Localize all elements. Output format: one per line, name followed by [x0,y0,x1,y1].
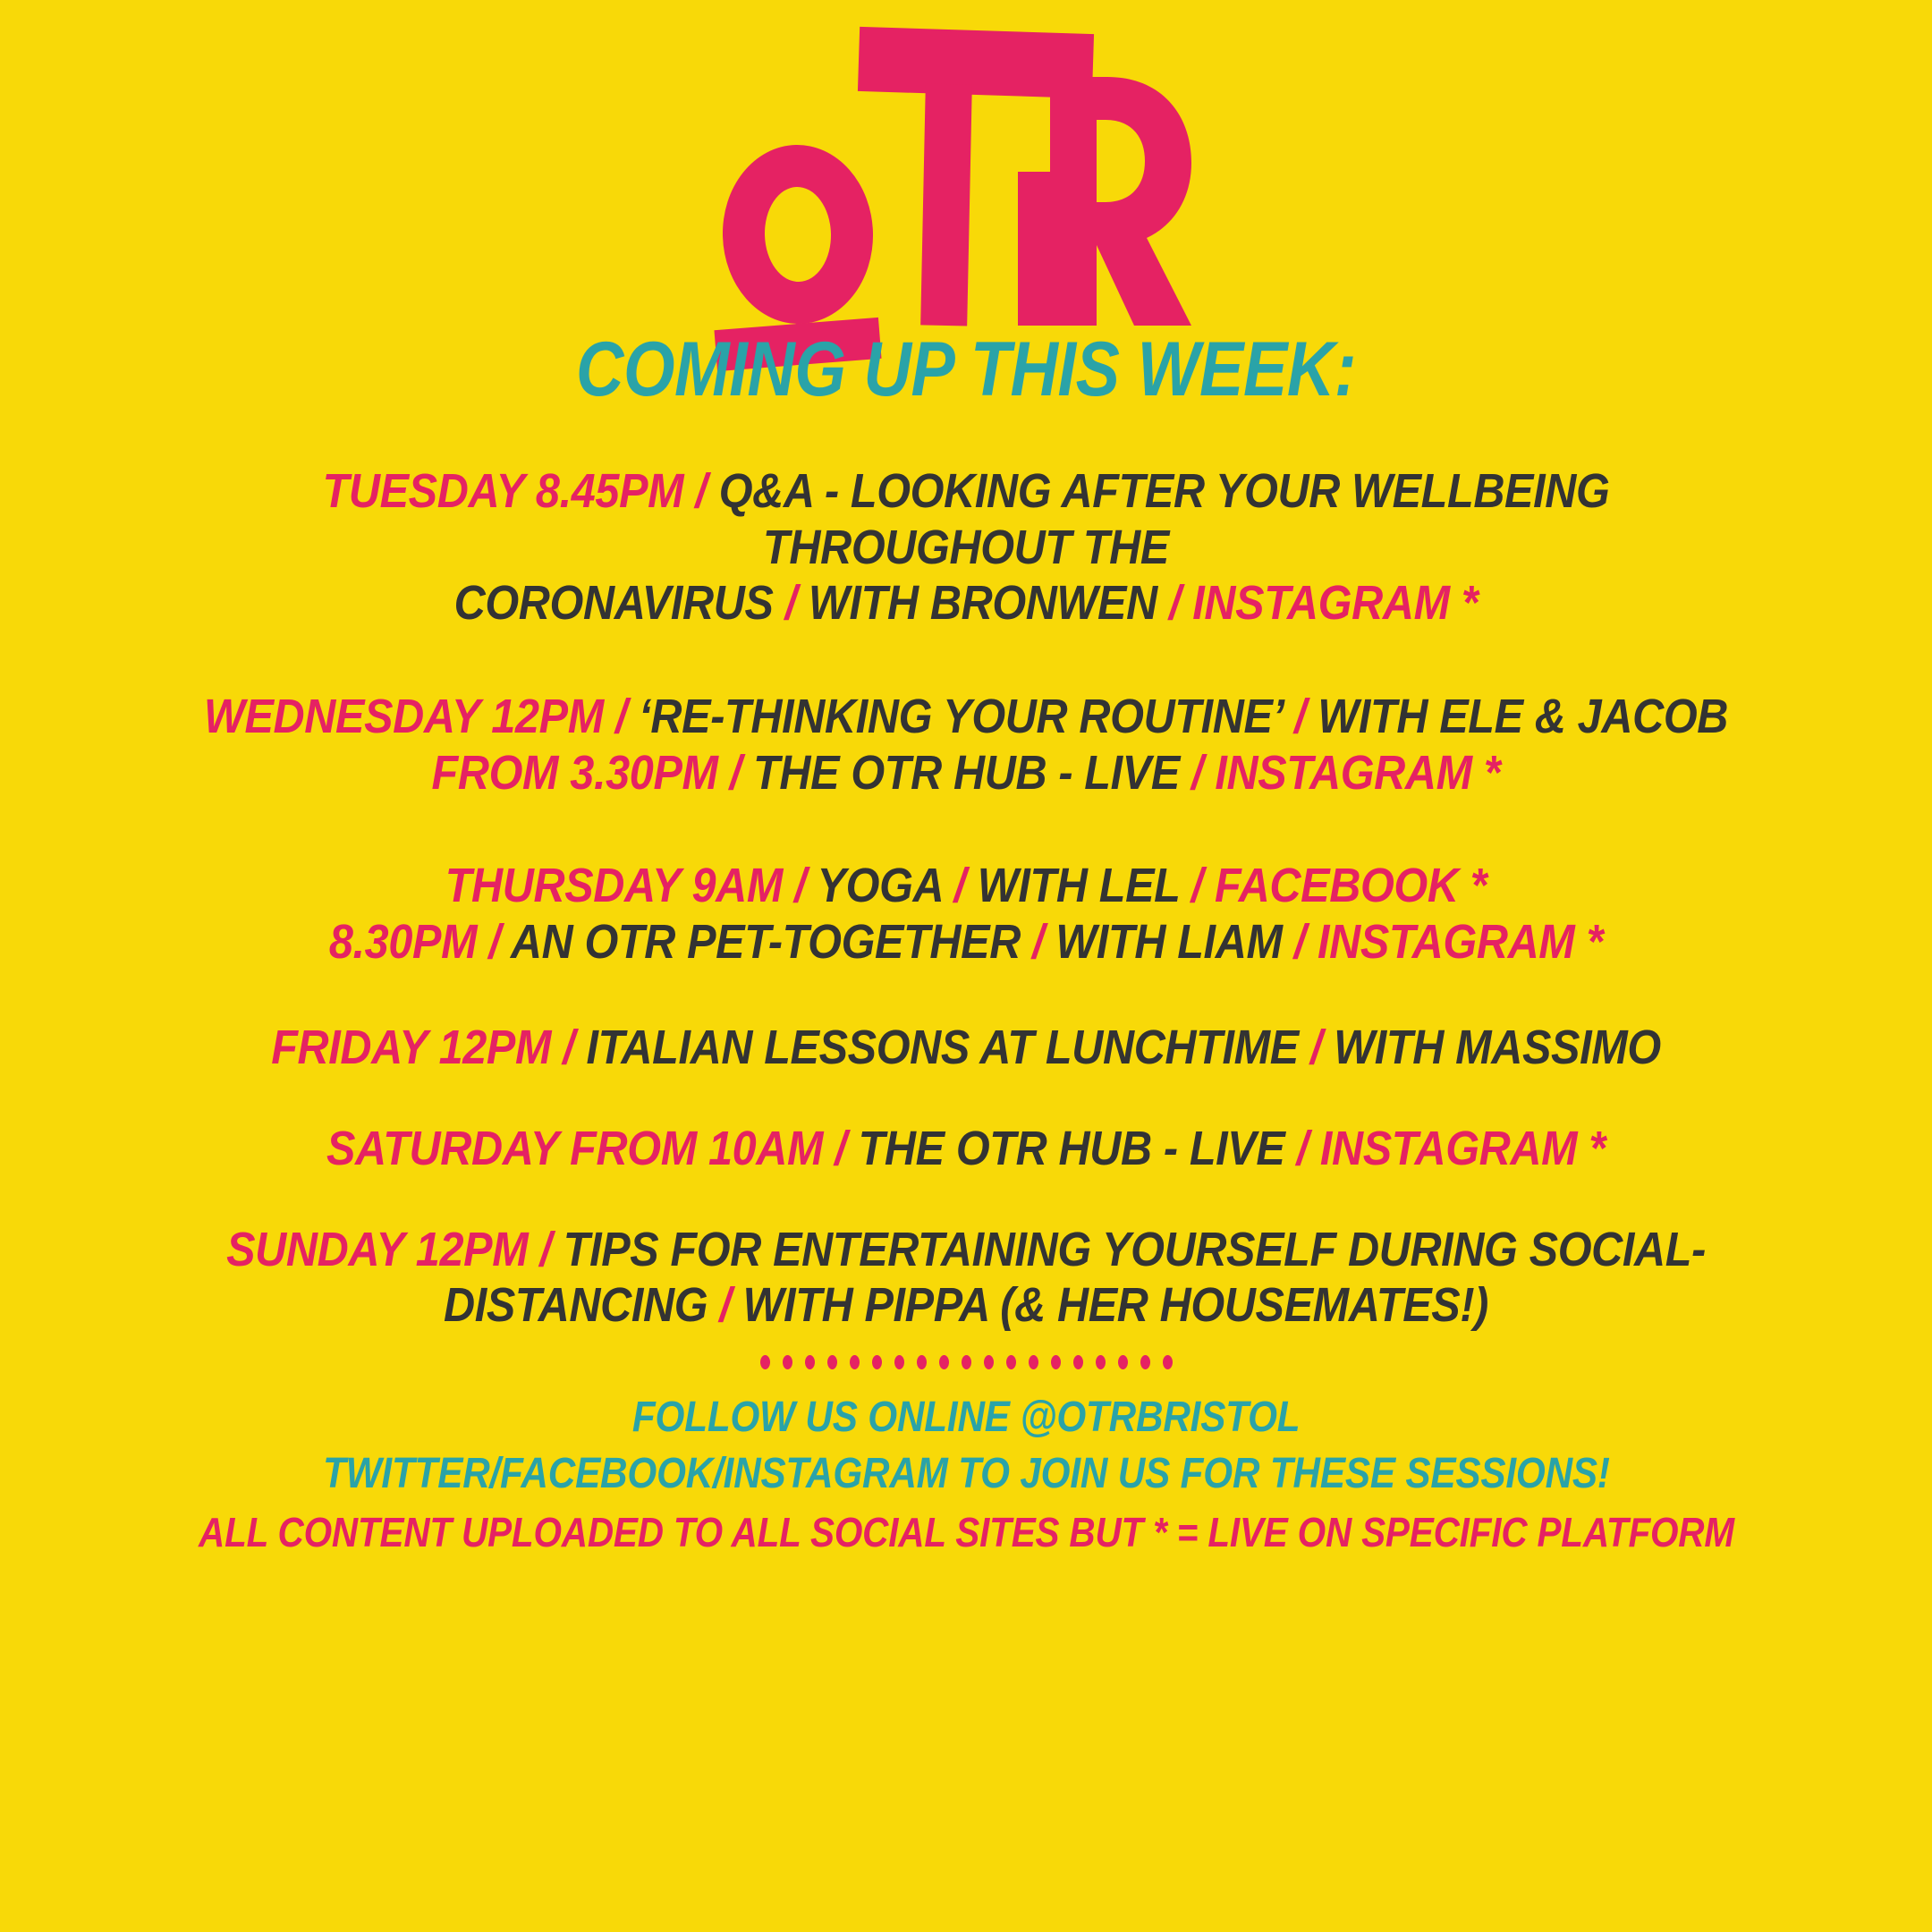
event-body-text: Q&A - LOOKING AFTER YOUR WELLBEING THROU… [708,464,1610,574]
event-highlight-text: / INSTAGRAM * [1169,576,1478,630]
otr-logo [716,30,1216,326]
dot-icon [1096,1355,1106,1369]
dot-icon [1006,1355,1016,1369]
event-highlight-text: TUESDAY 8.45PM / [323,464,708,518]
event-body-text: WITH LIAM [1044,915,1293,969]
dot-icon [850,1355,860,1369]
event-line: SUNDAY 12PM / TIPS FOR ENTERTAINING YOUR… [193,1222,1739,1278]
event-line: DISTANCING / WITH PIPPA (& HER HOUSEMATE… [193,1277,1739,1334]
event-list: TUESDAY 8.45PM / Q&A - LOOKING AFTER YOU… [107,463,1825,1343]
event-body-text: CORONAVIRUS [454,576,785,630]
event-highlight-text: / [1310,1021,1322,1074]
event-item-sunday: SUNDAY 12PM / TIPS FOR ENTERTAINING YOUR… [107,1222,1825,1334]
event-body-text: WITH BRONWEN [797,576,1169,630]
event-highlight-text: / [1294,690,1306,743]
event-highlight-text: THURSDAY 9AM / [445,859,807,912]
event-line: FROM 3.30PM / THE OTR HUB - LIVE / INSTA… [193,745,1739,801]
event-highlight-text: / [785,576,797,630]
dot-icon [827,1355,837,1369]
event-highlight-text: / INSTAGRAM * [1191,746,1500,800]
event-highlight-text: FRIDAY 12PM / [271,1021,574,1074]
event-body-text: THE OTR HUB - LIVE [741,746,1191,800]
dot-icon [805,1355,815,1369]
event-item-thursday: THURSDAY 9AM / YOGA / WITH LEL / FACEBOO… [107,858,1825,970]
event-item-wednesday: WEDNESDAY 12PM / ‘RE-THINKING YOUR ROUTI… [107,689,1825,801]
event-line: 8.30PM / AN OTR PET-TOGETHER / WITH LIAM… [193,914,1739,970]
event-highlight-text: / INSTAGRAM * [1297,1122,1606,1175]
event-highlight-text: WEDNESDAY 12PM / [204,690,639,743]
event-item-tuesday: TUESDAY 8.45PM / Q&A - LOOKING AFTER YOU… [107,463,1825,631]
event-line: CORONAVIRUS / WITH BRONWEN / INSTAGRAM * [193,575,1739,631]
event-body-text: YOGA [806,859,953,912]
event-body-text: ITALIAN LESSONS AT LUNCHTIME [574,1021,1310,1074]
poster-root: COMING UP THIS WEEK: TUESDAY 8.45PM / Q&… [0,0,1932,1932]
logo-letter-r-icon [1048,77,1191,326]
event-body-text: WITH PIPPA (& HER HOUSEMATES!) [731,1278,1488,1332]
dot-icon [1029,1355,1038,1369]
event-highlight-text: / INSTAGRAM * [1294,915,1603,969]
event-line: WEDNESDAY 12PM / ‘RE-THINKING YOUR ROUTI… [193,689,1739,745]
event-highlight-text: / [954,859,966,912]
dot-icon [872,1355,882,1369]
event-item-friday: FRIDAY 12PM / ITALIAN LESSONS AT LUNCHTI… [107,1020,1825,1076]
dot-icon [1118,1355,1128,1369]
dot-icon [894,1355,904,1369]
dot-icon [783,1355,792,1369]
footer-follow-line: FOLLOW US ONLINE @OTRBRISTOL [632,1393,1300,1444]
dot-icon [917,1355,927,1369]
footer-platforms-line: TWITTER/FACEBOOK/INSTAGRAM TO JOIN US FO… [323,1449,1610,1500]
event-body-text: AN OTR PET-TOGETHER [500,915,1032,969]
dot-icon [962,1355,971,1369]
event-body-text: THE OTR HUB - LIVE [846,1122,1296,1175]
logo-letter-t-stem-icon [920,83,972,326]
dot-icon [984,1355,994,1369]
event-highlight-text: / FACEBOOK * [1191,859,1487,912]
event-highlight-text: 8.30PM / [329,915,501,969]
event-body-text: WITH ELE & JACOB [1306,690,1728,743]
dot-icon [1073,1355,1083,1369]
page-title: COMING UP THIS WEEK: [576,331,1356,408]
footer: FOLLOW US ONLINE @OTRBRISTOL TWITTER/FAC… [0,1355,1932,1557]
logo-letter-o-icon [720,143,875,326]
event-highlight-text: / [1032,915,1044,969]
dot-icon [939,1355,949,1369]
dot-icon [1140,1355,1150,1369]
event-item-saturday: SATURDAY FROM 10AM / THE OTR HUB - LIVE … [107,1121,1825,1177]
dot-icon [760,1355,770,1369]
event-body-text: WITH MASSIMO [1322,1021,1661,1074]
dot-icon [1051,1355,1061,1369]
event-body-text: DISTANCING [444,1278,719,1332]
event-body-text: TIPS FOR ENTERTAINING YOURSELF DURING SO… [552,1223,1706,1276]
footer-disclaimer-line: ALL CONTENT UPLOADED TO ALL SOCIAL SITES… [199,1508,1734,1556]
event-highlight-text: / [719,1278,731,1332]
event-highlight-text: SATURDAY FROM 10AM / [326,1122,846,1175]
dot-divider [760,1355,1173,1369]
event-highlight-text: SUNDAY 12PM / [226,1223,552,1276]
event-line: TUESDAY 8.45PM / Q&A - LOOKING AFTER YOU… [193,463,1739,575]
event-line: THURSDAY 9AM / YOGA / WITH LEL / FACEBOO… [193,858,1739,914]
event-body-text: ‘RE-THINKING YOUR ROUTINE’ [639,690,1294,743]
event-body-text: WITH LEL [966,859,1191,912]
event-line: FRIDAY 12PM / ITALIAN LESSONS AT LUNCHTI… [193,1020,1739,1076]
event-highlight-text: FROM 3.30PM / [432,746,741,800]
event-line: SATURDAY FROM 10AM / THE OTR HUB - LIVE … [193,1121,1739,1177]
dot-icon [1163,1355,1173,1369]
